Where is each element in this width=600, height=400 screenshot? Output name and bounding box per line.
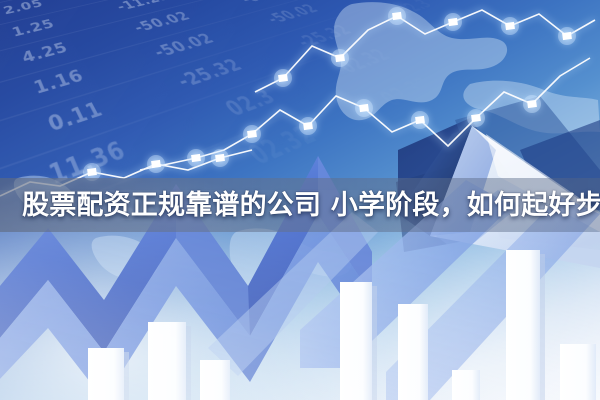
glow-node-marker: [147, 155, 165, 173]
glow-node-marker: [299, 117, 317, 135]
glow-node-marker: [243, 125, 261, 143]
glow-node-marker: [274, 69, 292, 87]
glow-node-marker: [558, 27, 576, 45]
glow-node-marker: [331, 49, 349, 67]
glow-node-marker: [388, 7, 406, 25]
glow-node-marker: [444, 13, 462, 31]
glow-node-marker: [501, 17, 519, 35]
glow-node-marker: [467, 109, 485, 127]
glow-node-marker: [411, 111, 429, 129]
glow-node-marker: [211, 149, 229, 167]
page-title: 股票配资正规靠谱的公司 小学阶段，如何起好步: [22, 186, 582, 226]
glow-node-marker: [187, 149, 205, 167]
glow-node-marker: [355, 99, 373, 117]
glow-node-marker: [523, 95, 541, 113]
banner-image: -02.352.3621.05-02.35-02.35-02.352.05-50…: [0, 0, 600, 400]
glow-polyline: [255, 10, 595, 92]
